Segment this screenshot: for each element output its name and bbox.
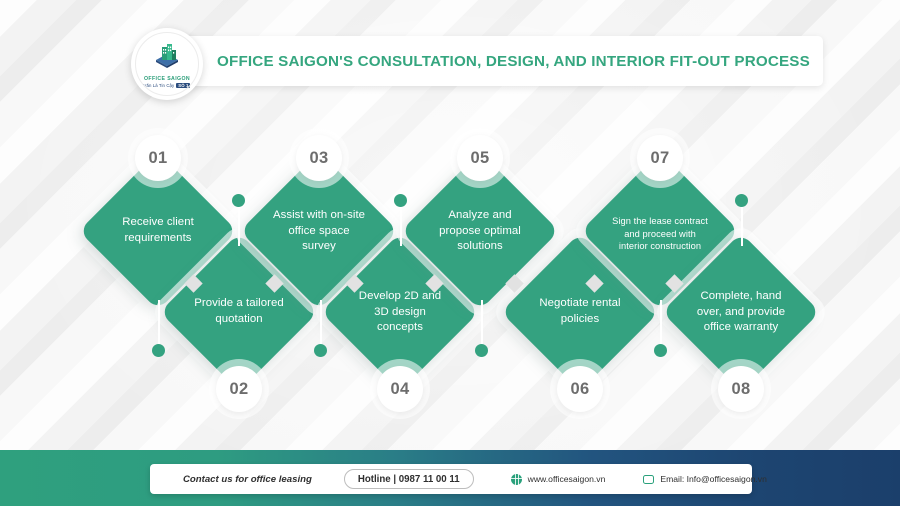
email-label: Email: Info@officesaigon.vn xyxy=(660,474,767,484)
website-link[interactable]: www.officesaigon.vn xyxy=(511,474,606,485)
website-label: www.officesaigon.vn xyxy=(528,474,606,484)
logo-badge: OFFICE SAIGON Văn Là Tin Cậy SỐ 1 xyxy=(131,28,203,100)
connector-dot xyxy=(232,194,245,207)
connector-line xyxy=(320,300,322,350)
connector-dot xyxy=(735,194,748,207)
logo-tagline-badge: SỐ 1 xyxy=(176,83,190,88)
connector-line xyxy=(481,300,483,350)
step-number-badge: 05 xyxy=(457,135,503,181)
mail-icon xyxy=(643,475,654,484)
step-number-badge: 03 xyxy=(296,135,342,181)
step-number-badge: 04 xyxy=(377,366,423,412)
connector-dot xyxy=(394,194,407,207)
footer-contact-card: Contact us for office leasing Hotline | … xyxy=(150,464,752,494)
step-number-badge: 07 xyxy=(637,135,683,181)
logo-tagline-text: Văn Là Tin Cậy xyxy=(144,83,175,88)
infographic-canvas: OFFICE SAIGON'S CONSULTATION, DESIGN, AN… xyxy=(0,0,900,506)
connector-line xyxy=(660,300,662,350)
step-number-badge: 02 xyxy=(216,366,262,412)
connector-dot xyxy=(314,344,327,357)
step-number-badge: 01 xyxy=(135,135,181,181)
connector-dot xyxy=(475,344,488,357)
globe-icon xyxy=(511,474,522,485)
email-link[interactable]: Email: Info@officesaigon.vn xyxy=(643,474,767,484)
logo-name: OFFICE SAIGON xyxy=(144,76,190,82)
footer-contact-label: Contact us for office leasing xyxy=(183,474,312,485)
logo-tagline: Văn Là Tin Cậy SỐ 1 xyxy=(144,83,191,88)
hotline-button[interactable]: Hotline | 0987 11 00 11 xyxy=(344,469,474,489)
connector-dot xyxy=(152,344,165,357)
step-number-badge: 08 xyxy=(718,366,764,412)
connector-dot xyxy=(654,344,667,357)
connector-line xyxy=(158,300,160,350)
step-number-badge: 06 xyxy=(557,366,603,412)
office-building-icon xyxy=(152,43,182,74)
